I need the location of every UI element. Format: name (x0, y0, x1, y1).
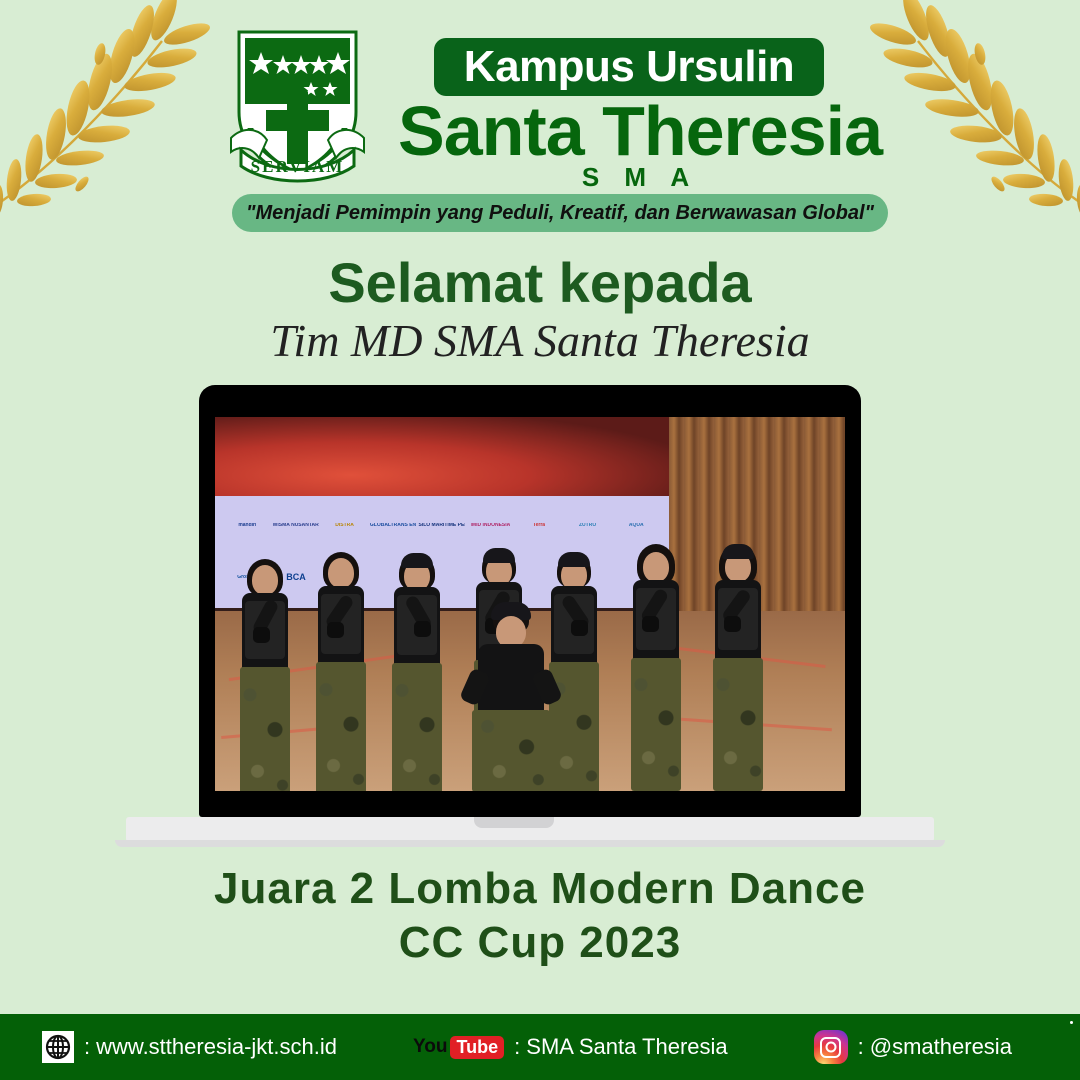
instagram-handle: @smatheresia (870, 1034, 1012, 1060)
award-caption: Juara 2 Lomba Modern Dance CC Cup 2023 (0, 862, 1080, 969)
youtube-icon: You Tube (413, 1036, 504, 1059)
sponsor-logo: IMID INDONESIA (471, 523, 511, 528)
website-separator: : (84, 1034, 90, 1060)
laptop-mockup: mandiri WISMA NUSANTARA DISTRA GLOBALTRA… (199, 385, 881, 855)
website-contact[interactable]: : www.sttheresia-jkt.sch.id (42, 1031, 337, 1063)
sponsor-logo: Terra (533, 523, 545, 528)
youtube-tube-text: Tube (450, 1036, 504, 1059)
poster-root: SERVIAM Kampus Ursulin Santa Theresia S … (0, 0, 1080, 1080)
coach-figure (451, 604, 571, 791)
team-photo: mandiri WISMA NUSANTARA DISTRA GLOBALTRA… (215, 417, 845, 791)
instagram-separator: : (858, 1034, 864, 1060)
kampus-ursulin-badge: Kampus Ursulin (434, 38, 824, 96)
youtube-channel: SMA Santa Theresia (526, 1034, 727, 1060)
sponsor-logo: GLOBALTRANS ENERGY (370, 523, 417, 528)
school-motto-banner: "Menjadi Pemimpin yang Peduli, Kreatif, … (232, 194, 888, 232)
sponsor-logo: AQUA (629, 523, 644, 528)
globe-icon (42, 1031, 74, 1063)
poster-header: SERVIAM Kampus Ursulin Santa Theresia S … (0, 14, 1080, 229)
sponsor-logo: mandiri (238, 523, 256, 528)
ursuline-shield-crest-icon: SERVIAM (225, 26, 370, 186)
laptop-notch (474, 817, 554, 828)
congratulations-heading: Selamat kepada (0, 252, 1080, 314)
award-line-1: Juara 2 Lomba Modern Dance (0, 862, 1080, 916)
team-name-subheading: Tim MD SMA Santa Theresia (0, 316, 1080, 367)
sponsor-logo: ZUTRO (579, 523, 596, 528)
sponsor-logo: SILO MARITIME PERDANA (418, 523, 465, 528)
youtube-separator: : (514, 1034, 520, 1060)
sponsor-logo: DISTRA (335, 523, 354, 528)
laptop-screen-bezel: mandiri WISMA NUSANTARA DISTRA GLOBALTRA… (199, 385, 861, 817)
youtube-contact[interactable]: You Tube : SMA Santa Theresia (413, 1034, 728, 1060)
award-line-2: CC Cup 2023 (0, 916, 1080, 970)
sponsor-logo: BCA (286, 573, 306, 582)
laptop-foot (115, 840, 945, 847)
contact-footer: : www.sttheresia-jkt.sch.id You Tube : S… (0, 1014, 1080, 1080)
youtube-you-text: You (413, 1036, 447, 1058)
instagram-icon (814, 1030, 848, 1064)
sponsor-backdrop: mandiri WISMA NUSANTARA DISTRA GLOBALTRA… (215, 496, 669, 608)
crest-motto-text: SERVIAM (251, 157, 345, 176)
sponsor-logo: WISMA NUSANTARA (273, 523, 320, 528)
school-level: S M A (380, 164, 900, 190)
photo-scene: mandiri WISMA NUSANTARA DISTRA GLOBALTRA… (215, 417, 845, 791)
website-url: www.sttheresia-jkt.sch.id (96, 1034, 337, 1060)
instagram-contact[interactable]: : @smatheresia (814, 1030, 1012, 1064)
school-name: Santa Theresia (380, 96, 900, 166)
